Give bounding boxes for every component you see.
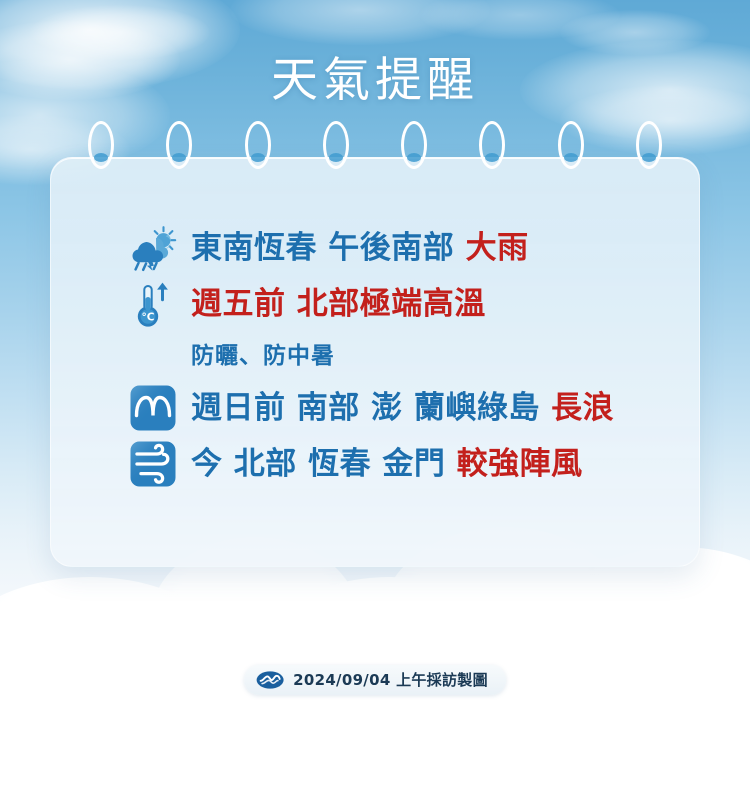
footer-credit-badge: 2024/09/04 上午採訪製圖 <box>244 665 506 695</box>
cloud-puff <box>600 577 750 687</box>
sun-behind-rain-cloud-icon-glyph <box>129 224 177 272</box>
strong-wind-icon-glyph <box>129 440 177 488</box>
long-wave-icon-glyph <box>129 384 177 432</box>
cloud-puff <box>480 577 750 762</box>
page-title: 天氣提醒 <box>0 52 750 110</box>
binding-ring <box>166 121 192 169</box>
alert-row: 今 北部 恆春 金門 較強陣風 <box>129 436 679 492</box>
binding-ring <box>245 121 271 169</box>
alert-text-segment-blue: 週日前 南部 澎 蘭嶼綠島 <box>191 390 551 426</box>
spiral-binding <box>50 121 700 171</box>
binding-ring <box>88 121 114 169</box>
alert-text: 東南恆春 午後南部 大雨 <box>191 228 529 268</box>
binding-ring <box>323 121 349 169</box>
alert-row: 週日前 南部 澎 蘭嶼綠島 長浪 <box>129 380 679 436</box>
alert-text-segment-blue: 今 北部 恆春 金門 <box>191 446 457 482</box>
alert-text: 今 北部 恆春 金門 較強陣風 <box>191 444 583 484</box>
alert-list: 東南恆春 午後南部 大雨 °C 週五前 北部極端高溫防曬、防中暑 <box>129 220 679 492</box>
alert-row: °C 週五前 北部極端高溫 <box>129 276 679 332</box>
alert-text-segment-red: 大雨 <box>466 230 529 266</box>
cloud-puff <box>430 572 600 667</box>
cloud-puff <box>200 582 350 672</box>
thermometer-hot-icon-glyph: °C <box>129 280 177 328</box>
long-wave-icon <box>129 384 177 432</box>
binding-ring <box>636 121 662 169</box>
alert-row: 東南恆春 午後南部 大雨 <box>129 220 679 276</box>
cloud-puff <box>540 547 750 747</box>
cloud-wisp <box>420 0 620 40</box>
cloud-wisp <box>230 0 490 45</box>
alert-text: 防曬、防中暑 <box>191 341 335 371</box>
alert-text-segment-blue: 防曬、防中暑 <box>191 343 335 369</box>
alert-text-segment-red: 較強陣風 <box>457 446 583 482</box>
sun-behind-rain-cloud-icon <box>129 224 177 272</box>
binding-ring <box>479 121 505 169</box>
binding-ring <box>558 121 584 169</box>
cloud-wisp <box>560 10 710 55</box>
binding-ring <box>401 121 427 169</box>
alert-subnote-row: 防曬、防中暑 <box>129 332 679 380</box>
cwa-wave-logo-icon <box>256 671 284 689</box>
strong-wind-icon <box>129 440 177 488</box>
alert-text: 週五前 北部極端高溫 <box>191 284 486 324</box>
notepad-card: 東南恆春 午後南部 大雨 °C 週五前 北部極端高溫防曬、防中暑 <box>50 157 700 567</box>
cloud-puff <box>0 587 130 687</box>
alert-text-segment-red: 週五前 北部極端高溫 <box>191 286 486 322</box>
svg-text:°C: °C <box>142 311 155 323</box>
alert-text-segment-red: 長浪 <box>551 390 614 426</box>
footer-credit-text: 2024/09/04 上午採訪製圖 <box>293 671 488 689</box>
thermometer-hot-icon: °C <box>129 280 177 328</box>
alert-text: 週日前 南部 澎 蘭嶼綠島 長浪 <box>191 388 614 428</box>
alert-text-segment-blue: 東南恆春 午後南部 <box>191 230 466 266</box>
cloud-puff <box>0 577 240 767</box>
